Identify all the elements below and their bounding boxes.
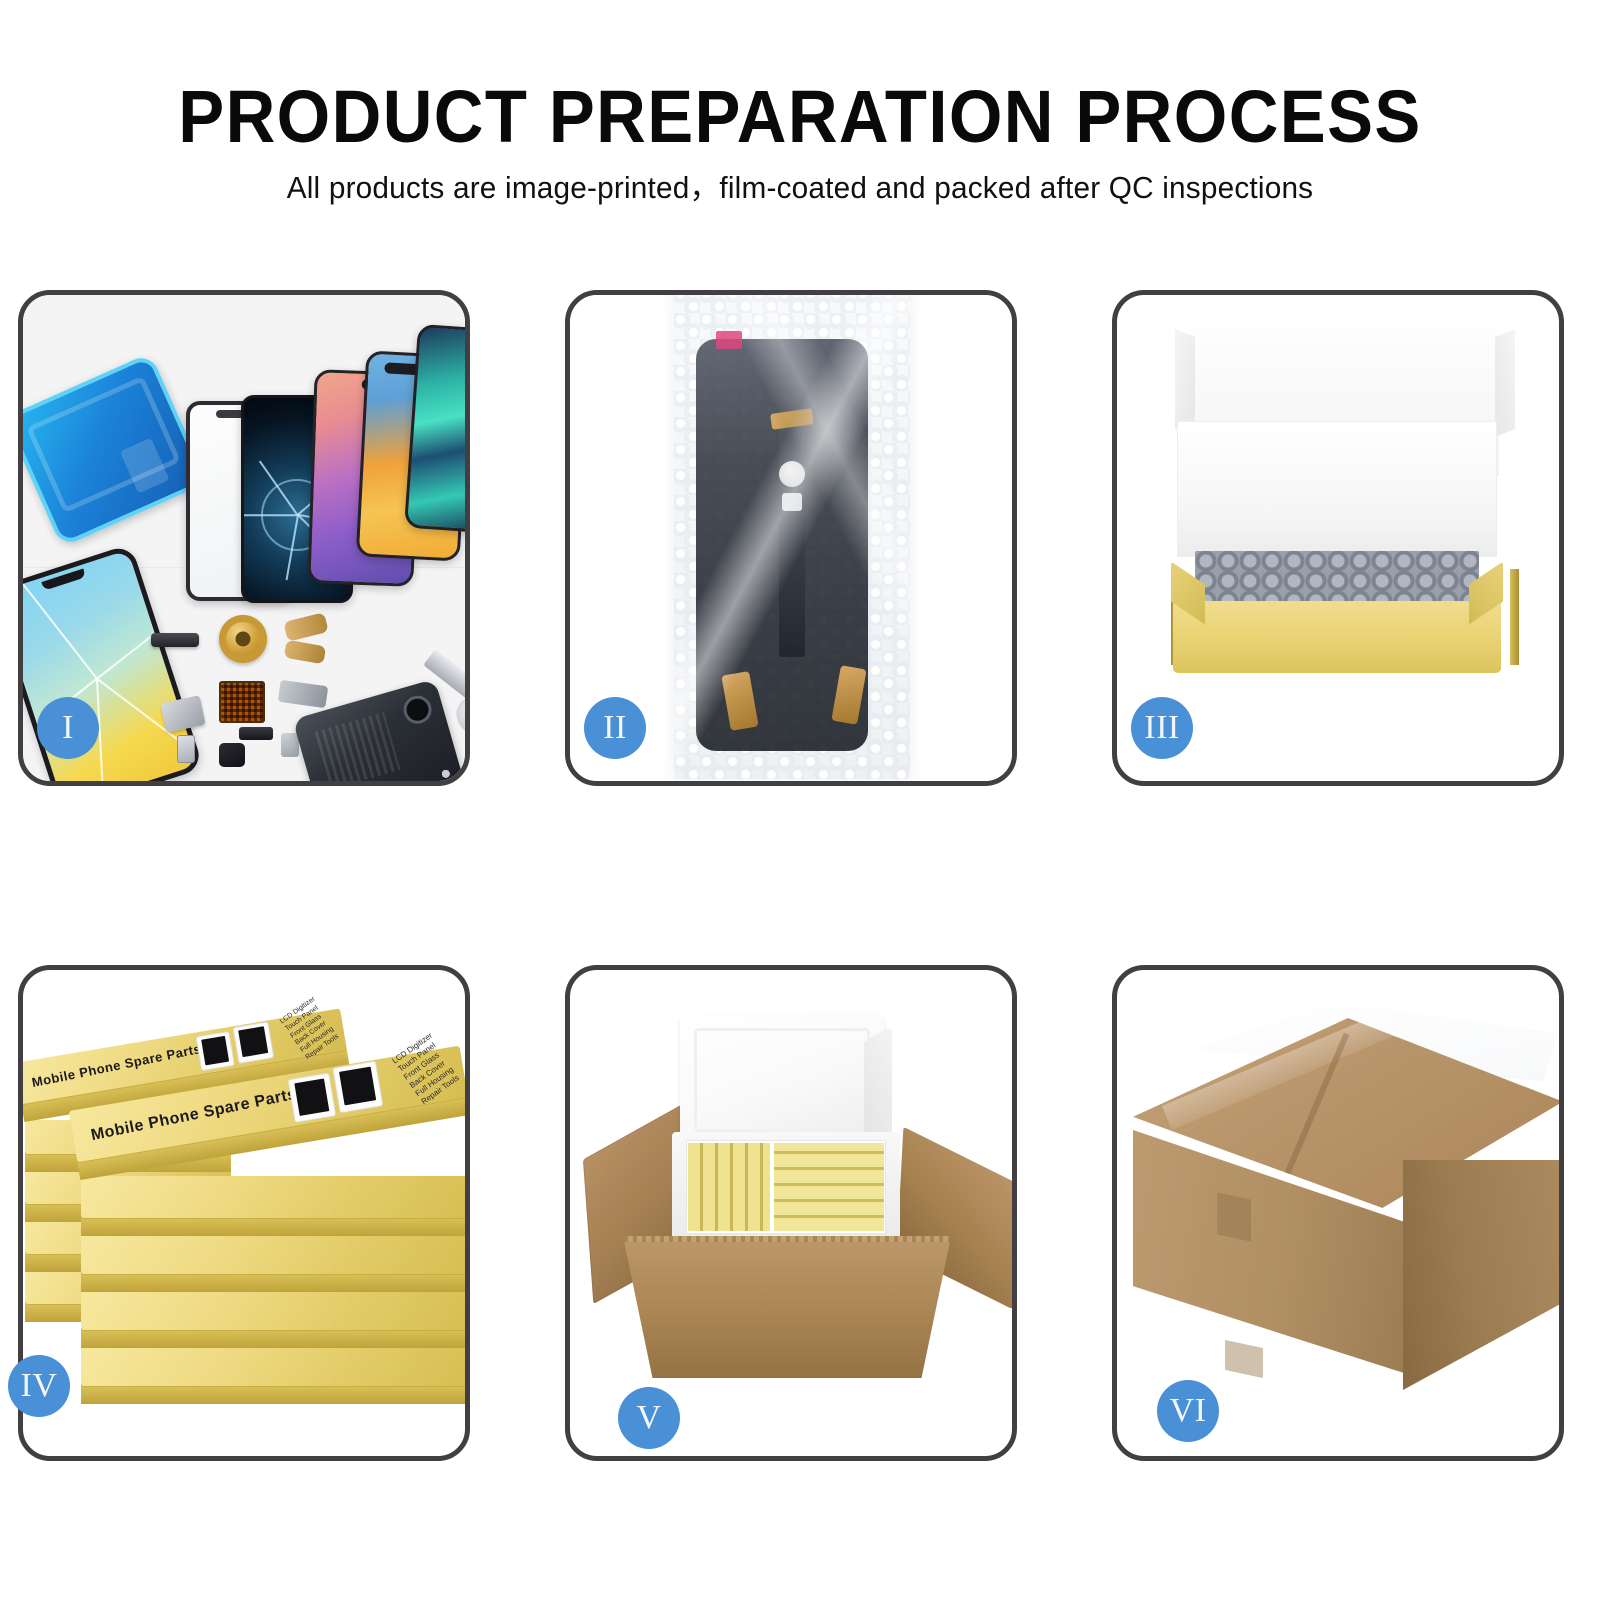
gold-box-row bbox=[774, 1143, 884, 1231]
box-checklist: LCD Digitizer Touch Panel Front Glass Ba… bbox=[390, 1031, 463, 1107]
step-panel-2[interactable]: II bbox=[565, 290, 1017, 786]
step-badge-5: V bbox=[618, 1387, 680, 1449]
page-subtitle: All products are image-printed，film-coat… bbox=[32, 170, 1568, 206]
step-panel-6[interactable]: VI bbox=[1112, 965, 1564, 1461]
sim-tray-part bbox=[177, 735, 195, 763]
box-top bbox=[81, 1344, 465, 1386]
box-product-photo bbox=[197, 1032, 234, 1070]
carton-body bbox=[610, 1242, 964, 1378]
box-product-photo bbox=[289, 1074, 335, 1122]
bubble-wrap-bag bbox=[674, 295, 910, 779]
gold-box-row bbox=[688, 1143, 770, 1231]
gold-box-stacks: Mobile Phone Spare Parts LCD Digitizer T… bbox=[23, 1014, 465, 1434]
gold-box bbox=[81, 1344, 465, 1406]
step-panel-4[interactable]: Mobile Phone Spare Parts LCD Digitizer T… bbox=[18, 965, 470, 1461]
box-base-yellow bbox=[1173, 601, 1501, 673]
step-badge-1: I bbox=[37, 697, 99, 759]
camera-module-part bbox=[219, 743, 245, 767]
foam-cavity bbox=[686, 1140, 886, 1234]
step-panel-1[interactable]: I bbox=[18, 290, 470, 786]
gold-box bbox=[81, 1176, 465, 1238]
sealed-shipping-carton bbox=[1129, 1000, 1559, 1428]
step-4-image: Mobile Phone Spare Parts LCD Digitizer T… bbox=[23, 970, 465, 1456]
box-side bbox=[81, 1216, 465, 1236]
step-badge-3: III bbox=[1131, 697, 1193, 759]
carton-side-face bbox=[1403, 1160, 1559, 1390]
header: PRODUCT PREPARATION PROCESS All products… bbox=[0, 0, 1600, 250]
gold-box bbox=[81, 1288, 465, 1350]
styrofoam-lid bbox=[680, 1014, 884, 1146]
box-top bbox=[81, 1232, 465, 1274]
phone-notch bbox=[41, 569, 86, 591]
vibration-motor-part bbox=[239, 727, 273, 740]
small-chip-part bbox=[782, 493, 802, 511]
white-foam-sheet bbox=[1177, 421, 1497, 557]
wireless-charging-coil-part bbox=[219, 615, 267, 663]
box-product-photo bbox=[333, 1062, 382, 1112]
open-kraft-box bbox=[1169, 323, 1521, 723]
box-side bbox=[81, 1328, 465, 1348]
box-wall-right bbox=[1510, 569, 1519, 665]
screws-part bbox=[437, 765, 465, 781]
box-side bbox=[81, 1272, 465, 1292]
grey-bubble-wrap-layer bbox=[1195, 551, 1479, 607]
earpiece-speaker-part bbox=[151, 633, 199, 647]
pink-qc-label bbox=[716, 331, 742, 349]
carton-stamp bbox=[1225, 1340, 1263, 1378]
home-button-part bbox=[779, 461, 805, 487]
box-side bbox=[81, 1384, 465, 1404]
box-top bbox=[81, 1288, 465, 1330]
box-top bbox=[81, 1176, 465, 1218]
gold-box bbox=[81, 1232, 465, 1294]
button-part bbox=[281, 733, 299, 757]
step-5-image bbox=[570, 970, 1012, 1456]
carton-stamp bbox=[1217, 1192, 1251, 1241]
step-panel-5[interactable]: V bbox=[565, 965, 1017, 1461]
crack-line bbox=[23, 584, 98, 680]
step-panel-3[interactable]: III bbox=[1112, 290, 1564, 786]
shatter-line bbox=[241, 514, 298, 516]
bga-chip-part bbox=[219, 681, 265, 723]
carton-with-foam-cooler bbox=[594, 1006, 1002, 1404]
page-title: PRODUCT PREPARATION PROCESS bbox=[56, 78, 1544, 156]
step-badge-6: VI bbox=[1157, 1380, 1219, 1442]
wrapped-flex-cable bbox=[779, 419, 805, 657]
box-product-photo bbox=[234, 1023, 273, 1063]
step-badge-2: II bbox=[584, 697, 646, 759]
